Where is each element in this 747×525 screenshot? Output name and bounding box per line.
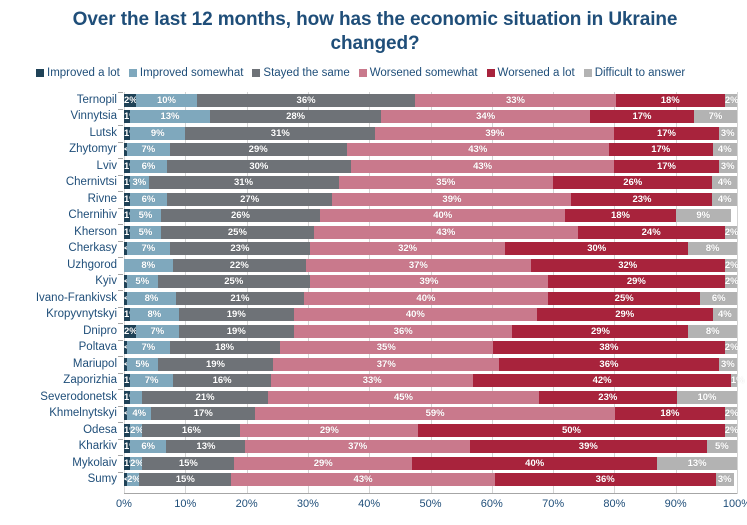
x-axis: 0%10%20%30%40%50%60%70%80%90%100% xyxy=(124,498,737,518)
bar-segment-value: 21% xyxy=(230,294,249,304)
bar-segment[interactable]: 29% xyxy=(234,457,412,470)
bar-segment[interactable]: 31% xyxy=(185,127,375,140)
legend-item[interactable]: Stayed the same xyxy=(252,67,349,79)
bar-segment[interactable]: 15% xyxy=(142,457,234,470)
bar-segment-value: 3% xyxy=(721,360,735,370)
bar-segment[interactable]: 9% xyxy=(676,209,731,222)
bar-segment-value: 40% xyxy=(416,294,435,304)
bar-segment[interactable]: 7% xyxy=(694,110,737,123)
bar-row[interactable]: 1%5%25%43%24%2% xyxy=(124,226,737,239)
bar-segment[interactable]: 25% xyxy=(158,275,311,288)
bar-row[interactable]: 2%10%36%33%18%2% xyxy=(124,94,737,107)
axis-tick xyxy=(118,323,123,324)
axis-tick xyxy=(118,389,123,390)
bar-segment[interactable]: 13% xyxy=(130,110,210,123)
category-label: Ivano-Frankivsk xyxy=(36,292,117,305)
bar-segment-value: 43% xyxy=(468,145,487,155)
bar-segment-value: 17% xyxy=(651,145,670,155)
bar-segment[interactable]: 8% xyxy=(127,292,176,305)
bar-segment[interactable]: 37% xyxy=(273,358,499,371)
bar-segment[interactable]: 4% xyxy=(713,143,737,156)
bar-segment-value: 37% xyxy=(348,442,367,452)
bar-segment-value: 19% xyxy=(227,327,246,337)
category-label: Odesa xyxy=(83,424,117,437)
bar-segment-value: 18% xyxy=(215,343,234,353)
bar-segment[interactable]: 16% xyxy=(173,374,271,387)
bar-segment[interactable]: 8% xyxy=(688,242,737,255)
category-label: Chernihiv xyxy=(68,209,117,222)
axis-tick xyxy=(118,109,123,110)
bar-segment[interactable]: 2% xyxy=(725,259,737,272)
bar-segment[interactable]: 3% xyxy=(716,473,734,486)
bar-segment-value: 35% xyxy=(436,178,455,188)
bar-segment-value: 24% xyxy=(642,228,661,238)
x-axis-tick-label: 10% xyxy=(174,498,196,510)
legend-swatch-icon xyxy=(487,69,495,77)
bar-segment-value: 27% xyxy=(240,195,259,205)
bar-row[interactable]: 1%8%19%40%29%4% xyxy=(124,308,737,321)
bar-segment[interactable]: 25% xyxy=(161,226,314,239)
category-label: Kherson xyxy=(74,226,117,239)
bar-segment[interactable]: 23% xyxy=(170,242,310,255)
bar-segment-value: 9% xyxy=(151,129,165,139)
bar-segment[interactable]: 31% xyxy=(149,176,339,189)
bar-segment-value: 30% xyxy=(249,162,268,172)
bar-segment[interactable]: 4% xyxy=(712,193,737,206)
bar-segment[interactable]: 13% xyxy=(657,457,737,470)
bar-segment-value: 32% xyxy=(398,244,417,254)
bar-segment-value: 50% xyxy=(562,426,581,436)
bar-segment[interactable]: 30% xyxy=(167,160,351,173)
bar-segment-value: 7% xyxy=(151,327,165,337)
bar-segment-value: 25% xyxy=(224,277,243,287)
bar-segment[interactable]: 37% xyxy=(306,259,531,272)
legend-item[interactable]: Worsened a lot xyxy=(487,67,575,79)
bar-segment-value: 2% xyxy=(725,261,739,271)
bar-segment[interactable]: 17% xyxy=(151,407,255,420)
bar-segment-value: 3% xyxy=(721,129,735,139)
bar-segment-value: 29% xyxy=(320,426,339,436)
bar-segment[interactable]: 40% xyxy=(412,457,657,470)
bar-segment-value: 15% xyxy=(179,459,198,469)
bar-segment-value: 8% xyxy=(141,261,155,271)
bar-segment-value: 29% xyxy=(627,277,646,287)
bar-segment[interactable]: 18% xyxy=(616,94,725,107)
x-axis-tick-label: 60% xyxy=(481,498,503,510)
axis-tick xyxy=(118,92,123,93)
axis-tick xyxy=(118,290,123,291)
bar-segment-value: 45% xyxy=(394,393,413,403)
bar-segment-value: 31% xyxy=(271,129,290,139)
category-label: Chernivtsi xyxy=(66,176,117,189)
bar-segment[interactable]: 36% xyxy=(197,94,416,107)
bar-segment[interactable]: 19% xyxy=(179,308,294,321)
bar-segment[interactable]: 7% xyxy=(127,341,170,354)
bar-segment-value: 18% xyxy=(661,96,680,106)
bar-segment[interactable]: 5% xyxy=(127,275,157,288)
bar-segment[interactable]: 5% xyxy=(130,226,161,239)
bar-segment[interactable]: 6% xyxy=(130,193,167,206)
bar-segment[interactable]: 2% xyxy=(130,424,142,437)
axis-tick xyxy=(118,472,123,473)
bar-segment[interactable]: 29% xyxy=(170,143,347,156)
bar-segment[interactable]: 22% xyxy=(173,259,307,272)
bar-segment-value: 7% xyxy=(142,145,156,155)
bar-segment[interactable]: 2% xyxy=(130,457,142,470)
bar-segment-value: 17% xyxy=(657,162,676,172)
bar-segment[interactable]: 33% xyxy=(415,94,615,107)
bar-segment[interactable]: 3% xyxy=(719,160,737,173)
bars-area: 2%10%36%33%18%2%1%13%28%34%17%7%1%9%31%3… xyxy=(124,92,737,494)
plot-area: TernopilVinnytsiaLutskZhytomyrLvivCherni… xyxy=(0,92,747,494)
bar-segment-value: 22% xyxy=(230,261,249,271)
bar-segment[interactable]: 25% xyxy=(548,292,701,305)
bar-segment[interactable]: 36% xyxy=(499,358,719,371)
x-axis-tick-label: 50% xyxy=(419,498,441,510)
bar-row[interactable]: <1%5%25%39%29%2% xyxy=(124,275,737,288)
axis-tick xyxy=(118,422,123,423)
bar-segment-value: 5% xyxy=(139,228,153,238)
axis-tick xyxy=(118,208,123,209)
category-label: Cherkasy xyxy=(68,242,117,255)
bar-segment-value: 36% xyxy=(599,360,618,370)
legend-swatch-icon xyxy=(359,69,367,77)
bar-segment-value: 7% xyxy=(145,376,159,386)
bar-row[interactable]: 1%6%27%39%23%4% xyxy=(124,193,737,206)
bar-segment[interactable]: 7% xyxy=(127,242,170,255)
category-label: Vinnytsia xyxy=(71,110,117,123)
bar-segment[interactable]: 17% xyxy=(609,143,713,156)
bar-segment[interactable]: 8% xyxy=(124,259,173,272)
bar-row[interactable]: 2%7%19%36%29%8% xyxy=(124,325,737,338)
bar-row[interactable]: <1%4%17%59%18%2% xyxy=(124,407,737,420)
bar-segment[interactable]: 5% xyxy=(127,358,157,371)
bar-segment-value: 3% xyxy=(721,162,735,172)
bar-segment-value: 39% xyxy=(485,129,504,139)
bar-segment[interactable]: 18% xyxy=(170,341,280,354)
bar-segment-value: 16% xyxy=(182,426,201,436)
bar-segment[interactable]: 18% xyxy=(565,209,675,222)
bar-segment[interactable]: 39% xyxy=(310,275,548,288)
bar-segment[interactable]: 7% xyxy=(127,143,170,156)
bar-segment-value: 17% xyxy=(657,129,676,139)
category-label: Rivne xyxy=(88,193,117,206)
bar-segment[interactable]: 3% xyxy=(719,358,737,371)
bar-segment[interactable]: 23% xyxy=(539,391,677,404)
bar-segment[interactable]: 19% xyxy=(179,325,294,338)
bar-segment[interactable]: 19% xyxy=(158,358,274,371)
bar-segment-value: 21% xyxy=(196,393,215,403)
bar-segment[interactable]: 10% xyxy=(677,391,737,404)
bar-segment-value: 36% xyxy=(297,96,316,106)
bar-segment-value: 23% xyxy=(598,393,617,403)
bar-segment[interactable]: 24% xyxy=(578,226,725,239)
bar-segment[interactable]: 10% xyxy=(136,94,197,107)
bar-row[interactable]: 1%6%30%43%17%3% xyxy=(124,160,737,173)
bar-segment[interactable]: 3% xyxy=(130,176,148,189)
bar-segment-value: 30% xyxy=(587,244,606,254)
bar-segment[interactable]: 18% xyxy=(615,407,725,420)
bar-segment[interactable]: 2% xyxy=(124,94,136,107)
legend-item[interactable]: Worsened somewhat xyxy=(359,67,478,79)
bar-segment[interactable]: 17% xyxy=(614,160,718,173)
bar-segment[interactable]: 32% xyxy=(310,242,505,255)
bar-segment[interactable]: 29% xyxy=(240,424,418,437)
bar-segment[interactable]: 36% xyxy=(495,473,716,486)
axis-tick xyxy=(118,340,123,341)
bar-segment[interactable]: 43% xyxy=(347,143,609,156)
bar-segment[interactable]: 28% xyxy=(210,110,382,123)
bar-segment-value: 10% xyxy=(157,96,176,106)
bar-segment[interactable]: 50% xyxy=(418,424,725,437)
bar-segment[interactable]: 5% xyxy=(707,440,737,453)
bar-row[interactable]: 1%3%31%35%26%4% xyxy=(124,176,737,189)
legend-swatch-icon xyxy=(36,69,44,77)
bar-segment[interactable]: 29% xyxy=(548,275,725,288)
bar-row[interactable]: <1%7%23%32%30%8% xyxy=(124,242,737,255)
legend-item[interactable]: Improved a lot xyxy=(36,67,120,79)
bar-segment[interactable]: 6% xyxy=(130,160,167,173)
axis-tick xyxy=(118,125,123,126)
bar-row[interactable]: 8%22%37%32%2% xyxy=(124,259,737,272)
bar-segment-value: 23% xyxy=(230,244,249,254)
bar-segment-value: 8% xyxy=(706,244,720,254)
category-label: Sumy xyxy=(88,473,117,486)
bar-segment-value: 37% xyxy=(377,360,396,370)
bar-segment[interactable]: 26% xyxy=(161,209,320,222)
bar-segment-value: 29% xyxy=(615,310,634,320)
bar-segment-value: 13% xyxy=(160,112,179,122)
bar-segment-value: 15% xyxy=(176,475,195,485)
bar-segment[interactable]: 29% xyxy=(537,308,713,321)
bar-segment[interactable]: 2% xyxy=(725,94,737,107)
axis-tick xyxy=(118,455,123,456)
bar-segment[interactable]: 16% xyxy=(142,424,240,437)
bar-segment-value: 4% xyxy=(718,310,732,320)
bar-segment[interactable]: 45% xyxy=(268,391,538,404)
bar-segment[interactable]: 29% xyxy=(512,325,688,338)
bar-segment[interactable]: 32% xyxy=(531,259,725,272)
legend-label: Stayed the same xyxy=(263,67,349,79)
bar-segment[interactable]: 38% xyxy=(493,341,725,354)
category-label: Mariupol xyxy=(73,358,117,371)
bar-segment-value: 18% xyxy=(611,211,630,221)
bar-segment-value: 8% xyxy=(145,294,159,304)
bar-segment-value: 25% xyxy=(228,228,247,238)
category-label: Ternopil xyxy=(77,94,117,107)
bar-segment[interactable]: 6% xyxy=(700,292,737,305)
bar-segment[interactable]: 8% xyxy=(688,325,737,338)
bar-segment[interactable]: 5% xyxy=(130,209,161,222)
category-label: Uzhgorod xyxy=(67,259,117,272)
category-label: Khmelnytskyi xyxy=(49,407,117,420)
bar-segment[interactable]: 40% xyxy=(320,209,565,222)
bar-segment[interactable]: 2% xyxy=(124,325,136,338)
axis-tick xyxy=(118,307,123,308)
bar-segment[interactable]: 15% xyxy=(139,473,231,486)
bar-row[interactable]: <1%5%19%37%36%3% xyxy=(124,358,737,371)
bar-row[interactable]: 1%6%13%37%39%5% xyxy=(124,440,737,453)
x-axis-tick-label: 70% xyxy=(542,498,564,510)
bar-segment-value: 4% xyxy=(718,195,732,205)
bar-row[interactable]: 1%9%31%39%17%3% xyxy=(124,127,737,140)
legend-label: Improved a lot xyxy=(47,67,120,79)
bar-segment-value: 2% xyxy=(725,96,739,106)
bar-segment-value: 7% xyxy=(142,343,156,353)
legend-item[interactable]: Improved somewhat xyxy=(129,67,244,79)
bar-segment-value: 6% xyxy=(142,195,156,205)
bar-row[interactable]: 1%2%15%29%40%13% xyxy=(124,457,737,470)
bar-segment-value: 19% xyxy=(227,310,246,320)
bar-segment[interactable]: 7% xyxy=(130,374,173,387)
bar-row[interactable]: <1%7%29%43%17%4% xyxy=(124,143,737,156)
bar-row[interactable]: 1%2%16%29%50%2% xyxy=(124,424,737,437)
bar-segment-value: 39% xyxy=(419,277,438,287)
legend-swatch-icon xyxy=(584,69,592,77)
bar-segment[interactable]: 43% xyxy=(231,473,495,486)
bar-segment[interactable]: 4% xyxy=(713,308,737,321)
bar-segment[interactable]: 40% xyxy=(294,308,537,321)
bar-segment-value: 8% xyxy=(706,327,720,337)
bar-segment[interactable]: 35% xyxy=(280,341,493,354)
bar-segment[interactable]: 2% xyxy=(127,473,139,486)
bar-segment-value: 8% xyxy=(147,310,161,320)
axis-tick xyxy=(118,257,123,258)
category-axis-labels: TernopilVinnytsiaLutskZhytomyrLvivCherni… xyxy=(0,92,121,494)
x-axis-tick-label: 100% xyxy=(723,498,747,510)
bar-row[interactable]: 1%5%26%40%18%9% xyxy=(124,209,737,222)
bar-segment[interactable]: 2% xyxy=(725,275,737,288)
bar-segment-value: 59% xyxy=(426,409,445,419)
bar-row[interactable]: <1%7%18%35%38%2% xyxy=(124,341,737,354)
bar-segment-value: 2% xyxy=(725,343,739,353)
axis-tick xyxy=(118,142,123,143)
bar-row[interactable]: 1%21%45%23%10% xyxy=(124,391,737,404)
bar-segment[interactable]: 13% xyxy=(166,440,245,453)
bar-segment[interactable]: 39% xyxy=(470,440,707,453)
bar-segment[interactable]: 36% xyxy=(294,325,513,338)
bar-segment[interactable]: 17% xyxy=(590,110,694,123)
bar-segment-value: 39% xyxy=(442,195,461,205)
bar-segment-value: 2% xyxy=(725,228,739,238)
bar-segment-value: 2% xyxy=(725,409,739,419)
bar-segment[interactable]: 8% xyxy=(130,308,179,321)
bar-segment[interactable]: 42% xyxy=(473,374,730,387)
bar-segment-value: 28% xyxy=(286,112,305,122)
bar-segment[interactable]: 17% xyxy=(614,127,718,140)
bar-segment[interactable]: 4% xyxy=(127,407,151,420)
bar-segment[interactable]: 7% xyxy=(136,325,178,338)
x-axis-tick-label: 30% xyxy=(297,498,319,510)
bar-segment[interactable]: 2% xyxy=(725,407,737,420)
legend-label: Worsened somewhat xyxy=(370,67,478,79)
bar-segment-value: 43% xyxy=(436,228,455,238)
bar-segment-value: 16% xyxy=(213,376,232,386)
bar-segment-value: 19% xyxy=(206,360,225,370)
bar-segment-value: 2% xyxy=(725,426,739,436)
bar-row[interactable]: <1%2%15%43%36%3% xyxy=(124,473,737,486)
bar-segment[interactable]: 23% xyxy=(571,193,712,206)
category-label: Poltava xyxy=(79,341,117,354)
bar-segment-value: 3% xyxy=(718,475,732,485)
category-label: Kropyvnytskyi xyxy=(46,308,117,321)
bar-segment[interactable]: 37% xyxy=(245,440,470,453)
bar-segment-value: 7% xyxy=(709,112,723,122)
bar-segment[interactable]: 43% xyxy=(314,226,578,239)
x-axis-tick-label: 20% xyxy=(236,498,258,510)
bar-segment-value: 38% xyxy=(599,343,618,353)
bar-segment[interactable]: 59% xyxy=(255,407,615,420)
bar-segment[interactable]: 3% xyxy=(719,127,737,140)
bar-segment-value: 23% xyxy=(632,195,651,205)
bar-segment-value: 33% xyxy=(506,96,525,106)
bar-segment-value: 25% xyxy=(615,294,634,304)
x-axis-tick-label: 0% xyxy=(116,498,132,510)
bar-row[interactable]: 1%7%16%33%42%1% xyxy=(124,374,737,387)
bar-segment-value: 18% xyxy=(660,409,679,419)
axis-tick xyxy=(118,158,123,159)
bar-segment[interactable]: 2% xyxy=(725,341,737,354)
bar-segment-value: 5% xyxy=(135,277,149,287)
bar-segment[interactable]: 21% xyxy=(176,292,304,305)
category-label: Dnipro xyxy=(83,325,117,338)
chart-legend: Improved a lotImproved somewhatStayed th… xyxy=(36,67,747,79)
bar-segment[interactable]: 2% xyxy=(725,424,737,437)
bar-segment[interactable]: 6% xyxy=(130,440,166,453)
bar-segment[interactable]: 30% xyxy=(505,242,688,255)
bar-segment-value: 5% xyxy=(139,211,153,221)
bar-segment[interactable]: 9% xyxy=(130,127,185,140)
legend-label: Improved somewhat xyxy=(140,67,244,79)
bar-segment-value: 17% xyxy=(194,409,213,419)
x-axis-tick-label: 40% xyxy=(358,498,380,510)
category-label: Lviv xyxy=(97,160,117,173)
bar-segment[interactable]: 43% xyxy=(351,160,615,173)
bar-segment-value: 40% xyxy=(525,459,544,469)
axis-tick xyxy=(118,406,123,407)
bar-segment[interactable]: 4% xyxy=(712,176,737,189)
axis-tick xyxy=(118,274,123,275)
bar-segment[interactable]: 1% xyxy=(731,374,737,387)
bar-segment[interactable]: 35% xyxy=(339,176,554,189)
bar-segment[interactable]: 26% xyxy=(553,176,712,189)
bar-segment[interactable]: 40% xyxy=(304,292,548,305)
bar-segment-value: 37% xyxy=(409,261,428,271)
bar-segment-value: 36% xyxy=(394,327,413,337)
bar-segment[interactable]: 27% xyxy=(167,193,333,206)
bar-segment[interactable] xyxy=(130,391,142,404)
bar-segment[interactable]: 39% xyxy=(375,127,614,140)
legend-swatch-icon xyxy=(252,69,260,77)
axis-tick xyxy=(118,241,123,242)
legend-item[interactable]: Difficult to answer xyxy=(584,67,686,79)
bar-row[interactable]: <1%8%21%40%25%6% xyxy=(124,292,737,305)
bar-segment[interactable]: 34% xyxy=(381,110,589,123)
bar-segment[interactable]: 39% xyxy=(332,193,571,206)
bar-segment-value: 4% xyxy=(132,409,146,419)
bar-row[interactable]: 1%13%28%34%17%7% xyxy=(124,110,737,123)
bar-segment[interactable]: 21% xyxy=(142,391,268,404)
x-axis-tick-label: 80% xyxy=(603,498,625,510)
bar-segment[interactable]: 33% xyxy=(271,374,473,387)
bar-segment-value: 40% xyxy=(406,310,425,320)
bar-segment-value: 43% xyxy=(473,162,492,172)
bar-segment-value: 34% xyxy=(476,112,495,122)
bar-segment[interactable]: 2% xyxy=(725,226,737,239)
bar-segment-value: 35% xyxy=(377,343,396,353)
axis-tick xyxy=(118,175,123,176)
bar-segment-value: 42% xyxy=(593,376,612,386)
